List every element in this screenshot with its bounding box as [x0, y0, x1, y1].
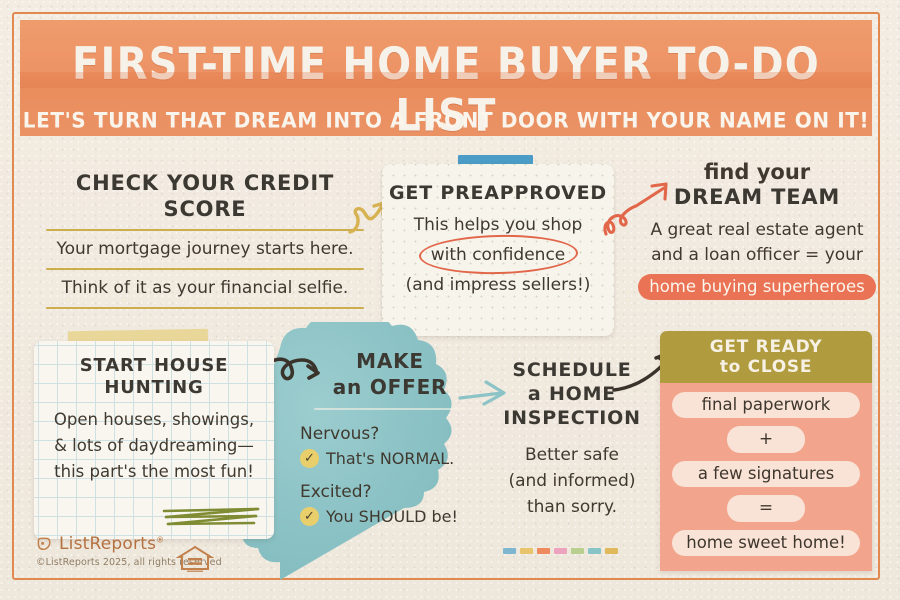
equal-housing-opportunity-icon [176, 544, 214, 574]
check-circle-icon: ✓ [300, 449, 319, 468]
color-swatch-5 [571, 548, 584, 554]
closing-body: final paperwork + a few signatures = hom… [660, 383, 872, 571]
dreamteam-line-1: A great real estate agent [632, 218, 882, 243]
brand-row: ListReports® [36, 534, 286, 554]
closing-title-1: GET READY [710, 337, 822, 357]
hunting-title-2: HUNTING [34, 377, 274, 399]
dreamteam-line-2: and a loan officer = your [632, 243, 882, 268]
hunting-line-3: this part's the most fun! [34, 459, 274, 485]
step-get-ready-to-close-card: GET READY to CLOSE final paperwork + a f… [660, 331, 872, 571]
step-make-an-offer: MAKE an OFFER Nervous? ✓ That's NORMAL. … [300, 348, 480, 526]
offer-question-2: Excited? [300, 482, 480, 502]
color-swatch-3 [537, 548, 550, 554]
copyright-text: ©ListReports 2025, all rights reserved [36, 557, 286, 568]
dreamteam-title-2: DREAM TEAM [632, 185, 882, 210]
preapproved-highlight-wrap: with confidence [431, 240, 566, 270]
offer-answer-2-row: ✓ You SHOULD be! [300, 507, 480, 526]
inspection-line-1: Better safe [492, 442, 652, 468]
color-swatch-strip [503, 548, 618, 554]
step-get-preapproved-card: GET PREAPPROVED This helps you shop with… [382, 164, 614, 336]
color-swatch-2 [520, 548, 533, 554]
credit-rule-3 [46, 307, 364, 309]
hunting-line-2: & lots of daydreaming— [34, 433, 274, 459]
credit-line-1: Your mortgage journey starts here. [46, 237, 364, 261]
page-subtitle: LET'S TURN THAT DREAM INTO A FRONT DOOR … [20, 107, 872, 132]
closing-title-2: to CLOSE [720, 357, 812, 377]
offer-answer-2: You SHOULD be! [326, 507, 458, 526]
inspection-line-3: than sorry. [492, 494, 652, 520]
preapproved-line-3: (and impress sellers!) [382, 270, 614, 300]
offer-answer-1-row: ✓ That's NORMAL. [300, 449, 480, 468]
step-find-dream-team: find your DREAM TEAM A great real estate… [632, 160, 882, 300]
olive-scribble-icon [160, 503, 264, 531]
preapproved-title: GET PREAPPROVED [382, 182, 614, 204]
footer: ListReports® ©ListReports 2025, all righ… [36, 534, 286, 568]
credit-line-2: Think of it as your financial selfie. [46, 276, 364, 300]
listreports-logo-icon [36, 536, 53, 553]
step-start-house-hunting-card: START HOUSE HUNTING Open houses, showing… [34, 341, 274, 539]
color-swatch-6 [588, 548, 601, 554]
offer-title-1: MAKE [300, 348, 480, 374]
color-swatch-7 [605, 548, 618, 554]
header-banner: FIRST-TIME HOME BUYER TO-DO LIST LET'S T… [20, 20, 872, 136]
inspection-line-2: (and informed) [492, 468, 652, 494]
step-check-credit-score: CHECK YOUR CREDIT SCORE Your mortgage jo… [46, 170, 364, 315]
color-swatch-1 [503, 548, 516, 554]
closing-header: GET READY to CLOSE [660, 331, 872, 383]
closing-row-4: = [727, 495, 805, 522]
brand-name: ListReports® [59, 534, 164, 554]
closing-row-5: home sweet home! [672, 530, 860, 556]
credit-title: CHECK YOUR CREDIT SCORE [46, 170, 364, 222]
infographic-root: FIRST-TIME HOME BUYER TO-DO LIST LET'S T… [0, 0, 900, 600]
offer-divider [314, 408, 466, 410]
closing-row-2: + [727, 426, 805, 453]
brand-mark: ® [156, 535, 164, 544]
check-circle-icon: ✓ [300, 507, 319, 526]
dreamteam-pill: home buying superheroes [638, 274, 876, 300]
dreamteam-title-1: find your [632, 160, 882, 185]
offer-question-1: Nervous? [300, 424, 480, 444]
closing-row-3: a few signatures [672, 461, 860, 487]
hunting-title-1: START HOUSE [34, 355, 274, 377]
hunting-line-1: Open houses, showings, [34, 407, 274, 433]
offer-answer-1: That's NORMAL. [326, 449, 454, 468]
offer-title-2: an OFFER [300, 374, 480, 400]
credit-rule-2 [46, 268, 364, 270]
color-swatch-4 [554, 548, 567, 554]
closing-row-1: final paperwork [672, 392, 860, 418]
credit-rule-1 [46, 229, 364, 231]
circle-annotation-icon [418, 233, 577, 275]
inspection-title-3: INSPECTION [492, 406, 652, 430]
